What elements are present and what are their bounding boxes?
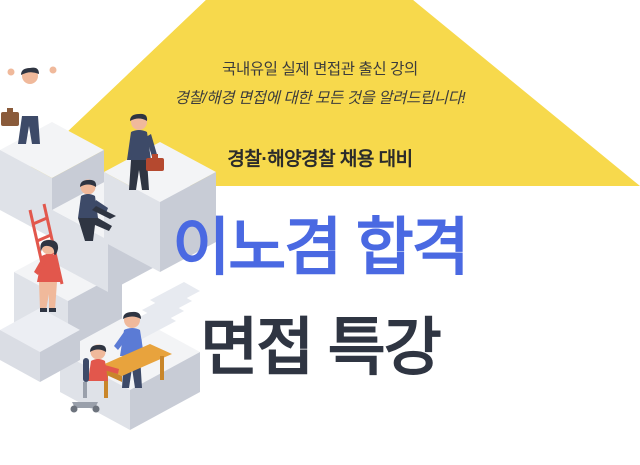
promo-banner: 국내유일 실제 면접관 출신 강의 경찰/해경 면접에 대한 모든 것을 알려드… bbox=[0, 0, 640, 465]
subtitle-line-2: 경찰/해경 면접에 대한 모든 것을 알려드립니다! bbox=[0, 86, 640, 108]
title-line-1: 이노겸 합격 bbox=[0, 197, 640, 288]
subtitle-line-1: 국내유일 실제 면접관 출신 강의 bbox=[0, 57, 640, 79]
title-line-2: 면접 특강 bbox=[0, 297, 640, 388]
kicker-text: 경찰·해양경찰 채용 대비 bbox=[0, 144, 640, 171]
